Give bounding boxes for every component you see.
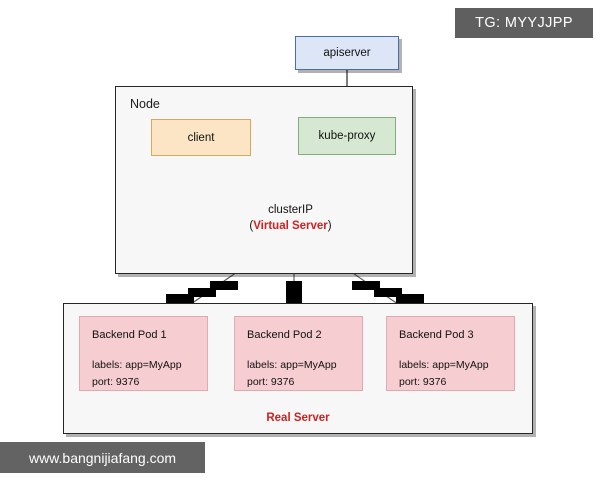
diagram-canvas: Node apiserver client kube-proxy cluster… xyxy=(0,0,600,480)
site-watermark: www.bangnijiafang.com xyxy=(0,442,205,473)
redaction-staircase-left xyxy=(166,281,238,303)
redaction-block-center xyxy=(286,281,302,303)
redaction-staircase-right xyxy=(352,281,424,303)
tg-badge: TG: MYYJJPP xyxy=(455,8,593,38)
redaction-marks-layer xyxy=(0,0,600,480)
